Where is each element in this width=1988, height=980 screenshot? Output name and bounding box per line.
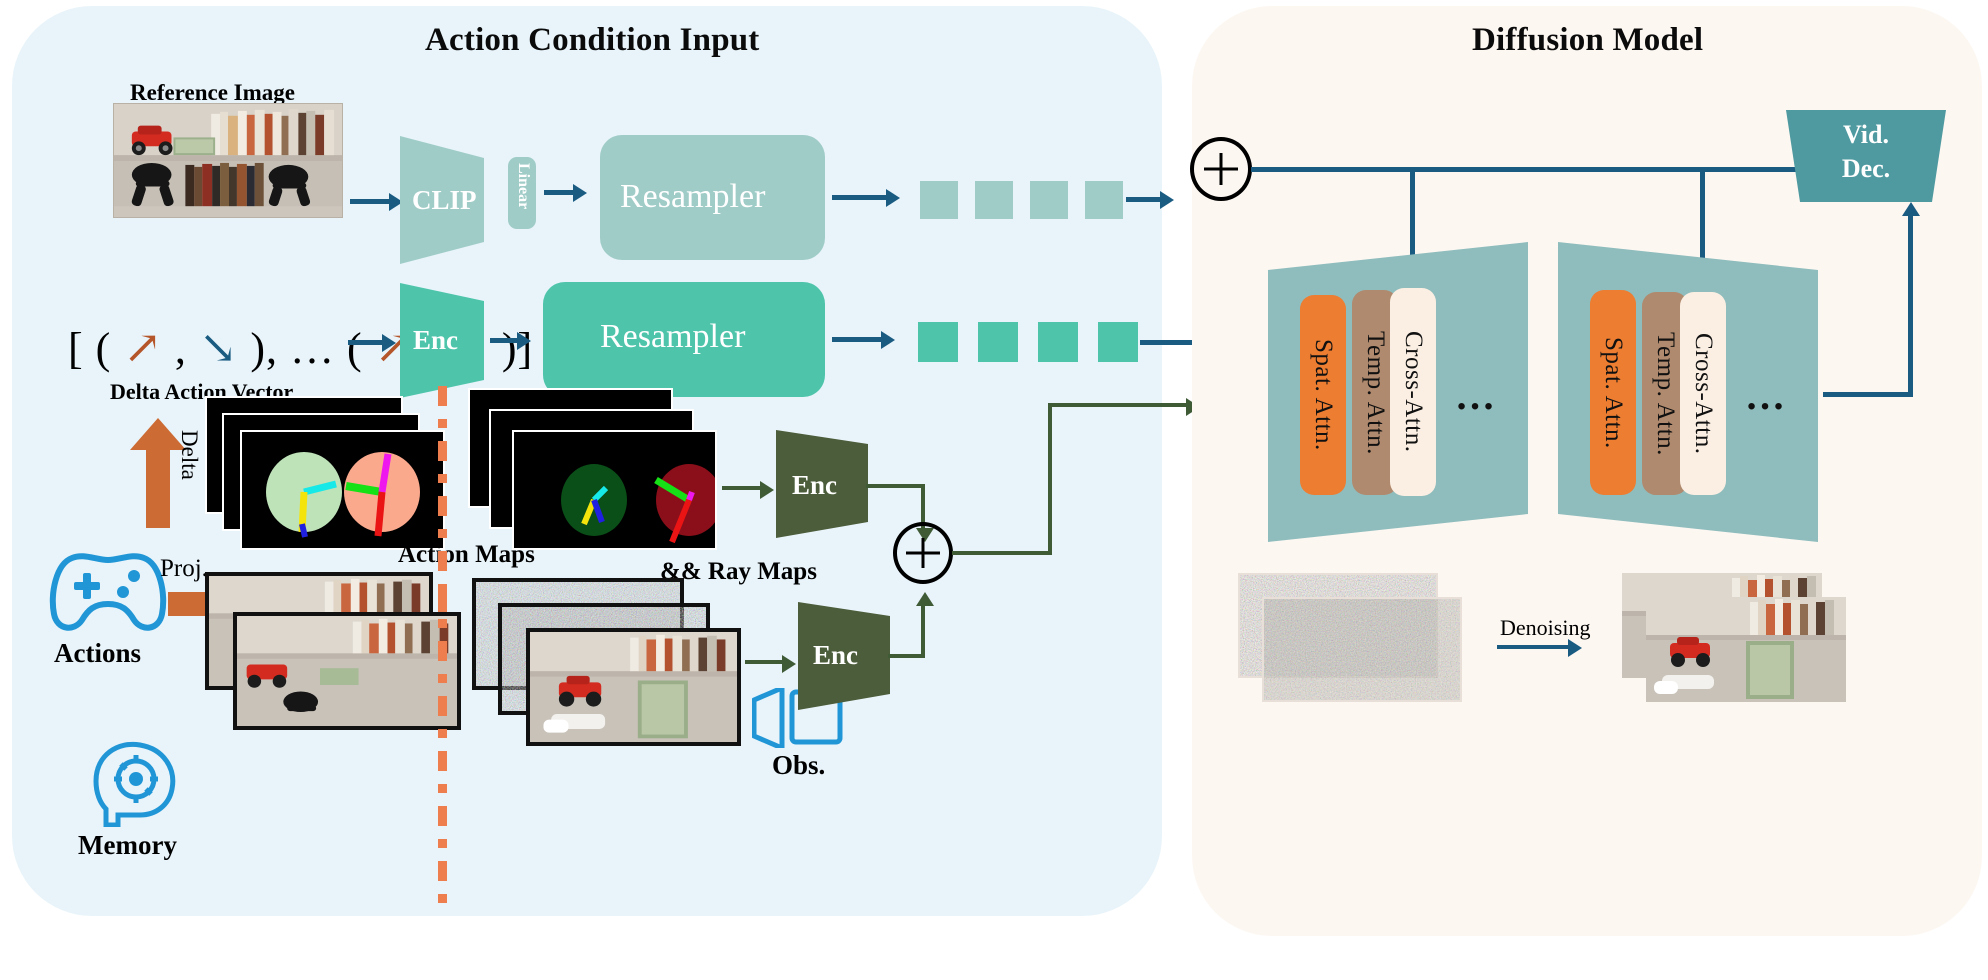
arrow-obsenc-up-head [916,592,934,606]
video-decoder-line1: Vid. [1786,118,1946,152]
video-decoder-line2: Dec. [1786,152,1946,186]
action-token-1 [918,322,958,362]
arrow-obs-to-enc-head [782,655,796,673]
action-enc-label: Enc [413,325,458,356]
delta-comma-1: , [175,324,187,373]
clip-label: CLIP [412,185,477,216]
proj-label: Proj. [160,555,208,583]
arrow-tokens-to-sum [1126,197,1161,202]
resampler-action-label: Resampler [600,318,745,356]
reference-image [113,103,343,218]
denoise-input-front [1262,597,1462,702]
unet2-spat-attn-label: Spat. Attn. [1599,337,1627,449]
action-token-3 [1038,322,1078,362]
arrow-resampler2-to-tokens [832,337,882,342]
arrow-resampler-to-tokens-head [886,189,900,207]
line-mapenc-right [866,484,924,488]
panel-title-right: Diffusion Model [1472,22,1703,59]
obs-photo-front [526,628,741,746]
unet1-cross-attn-label: Cross-Attn. [1399,331,1427,452]
arrow-enc-to-resampler2-head [517,332,531,350]
map-enc-label: Enc [792,470,837,501]
brain-memory-icon [78,735,188,827]
gamepad-icon [48,548,168,636]
line-unet2-out-up [1908,215,1913,395]
arrow-delta-to-enc [348,340,383,345]
arrow-enc-to-resampler2 [490,338,518,343]
diagram-canvas: Action Condition Input Reference Image [0,0,1988,980]
arrow-resampler-to-tokens [832,195,887,200]
unet2-temp-attn-label: Temp. Attn. [1651,332,1679,456]
obs-enc-label: Enc [813,640,858,671]
denoising-label: Denoising [1500,615,1590,641]
arrow-ref-to-clip [350,199,390,204]
sum-node-top [1190,137,1252,201]
arrow-down-right-icon-1: ↘ [199,322,239,373]
arrow-raymaps-to-enc [722,486,762,490]
delta-arrow-label: Delta [176,430,202,480]
ray-map-frame-front [512,430,717,550]
unet2-ellipsis: … [1745,372,1788,419]
unet2-cross-attn: Cross-Attn. [1680,292,1726,495]
arrow-denoising-head [1568,639,1582,657]
arrow-delta-to-enc-head [382,334,396,352]
unet1-temp-attn-label: Temp. Attn. [1361,331,1389,455]
action-map-frame-front [240,430,445,550]
unet2-cross-attn-label: Cross-Attn. [1689,333,1717,454]
line-sum-to-unet [952,551,1052,555]
image-token-1 [920,181,958,219]
image-token-3 [1030,181,1068,219]
linear-label: Linear [514,163,532,209]
denoise-output-front [1646,597,1846,702]
arrow-obs-to-enc [745,660,783,664]
arrow-up-right-icon-1: ↗ [123,322,163,373]
memory-photo-front [233,612,461,730]
arrow-tokens-to-sum-head [1160,191,1174,209]
arrow-resampler2-to-tokens-head [881,331,895,349]
arrow-linear-to-resampler [544,190,574,195]
line-sum-to-unet-right [1048,403,1188,407]
image-token-4 [1085,181,1123,219]
divider-dashed-lower [438,586,447,916]
memory-label: Memory [78,830,177,861]
arrow-linear-to-resampler-head [573,184,587,202]
line-obsenc-up [921,604,925,658]
arrow-denoising [1497,645,1569,649]
line-unet2-out-right [1823,392,1913,397]
sum-node-bottom [893,522,953,584]
arrow-raymaps-to-enc-head [760,481,774,499]
image-token-2 [975,181,1013,219]
delta-paren-close-1: ), … ( [250,324,362,373]
action-token-2 [978,322,1018,362]
actions-label: Actions [54,638,141,669]
resampler-image-label: Resampler [620,178,765,216]
line-obsenc-right [888,654,924,658]
unet1-cross-attn: Cross-Attn. [1390,288,1436,496]
delta-bracket-open: [ ( [68,324,111,373]
line-sum-to-unet-up [1048,403,1052,553]
panel-title-left: Action Condition Input [425,22,760,59]
unet1-spat-attn-label: Spat. Attn. [1309,339,1337,451]
unet1-spat-attn: Spat. Attn. [1300,295,1346,495]
obs-label: Obs. [772,750,825,781]
unet2-spat-attn: Spat. Attn. [1590,290,1636,495]
unet1-ellipsis: … [1455,372,1498,419]
arrow-unet2-to-viddec-head [1902,202,1920,216]
bus-top-horizontal [1251,167,1826,172]
action-token-4 [1098,322,1138,362]
